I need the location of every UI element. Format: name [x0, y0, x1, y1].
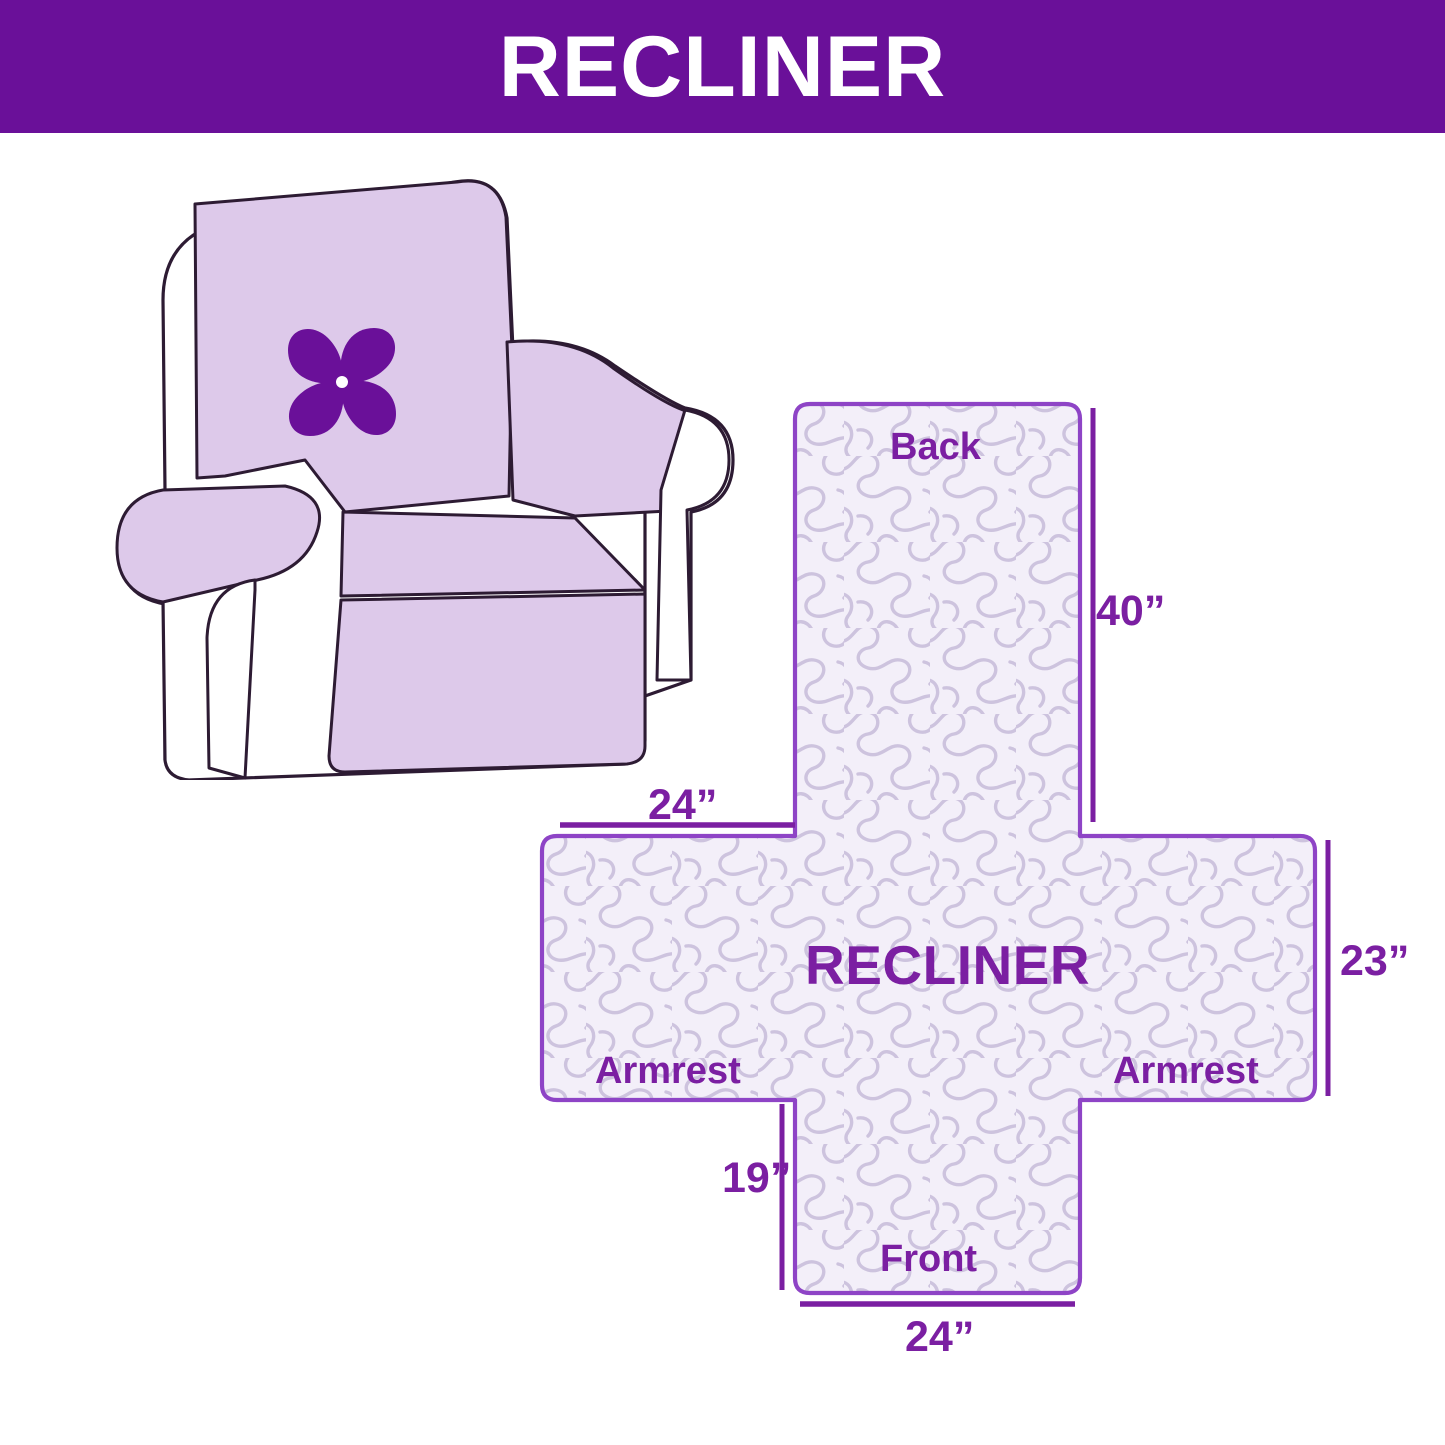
cover-cross-outline [542, 404, 1315, 1293]
flat-cover-cross-diagram [500, 370, 1445, 1390]
panel-label-front: Front [880, 1240, 977, 1278]
cover-diagram-svg [500, 370, 1445, 1390]
panel-label-armrest-left: Armrest [595, 1052, 741, 1090]
panel-label-back: Back [890, 428, 981, 466]
pinwheel-hub [336, 376, 348, 388]
dimension-label-back-width: 24” [648, 784, 717, 827]
header-banner: RECLINER [0, 0, 1445, 133]
chair-left-arm-cover [117, 486, 320, 602]
dimension-label-armrest-depth: 23” [1340, 940, 1409, 983]
dimension-label-back-height: 40” [1096, 590, 1165, 633]
panel-label-armrest-right: Armrest [1113, 1052, 1259, 1090]
product-dimension-infographic: RECLINER [0, 0, 1445, 1445]
dimension-label-front-width: 24” [905, 1316, 974, 1359]
page-title: RECLINER [499, 24, 947, 110]
dimension-label-front-height: 19” [722, 1157, 791, 1200]
panel-label-recliner-center: RECLINER [805, 938, 1090, 993]
